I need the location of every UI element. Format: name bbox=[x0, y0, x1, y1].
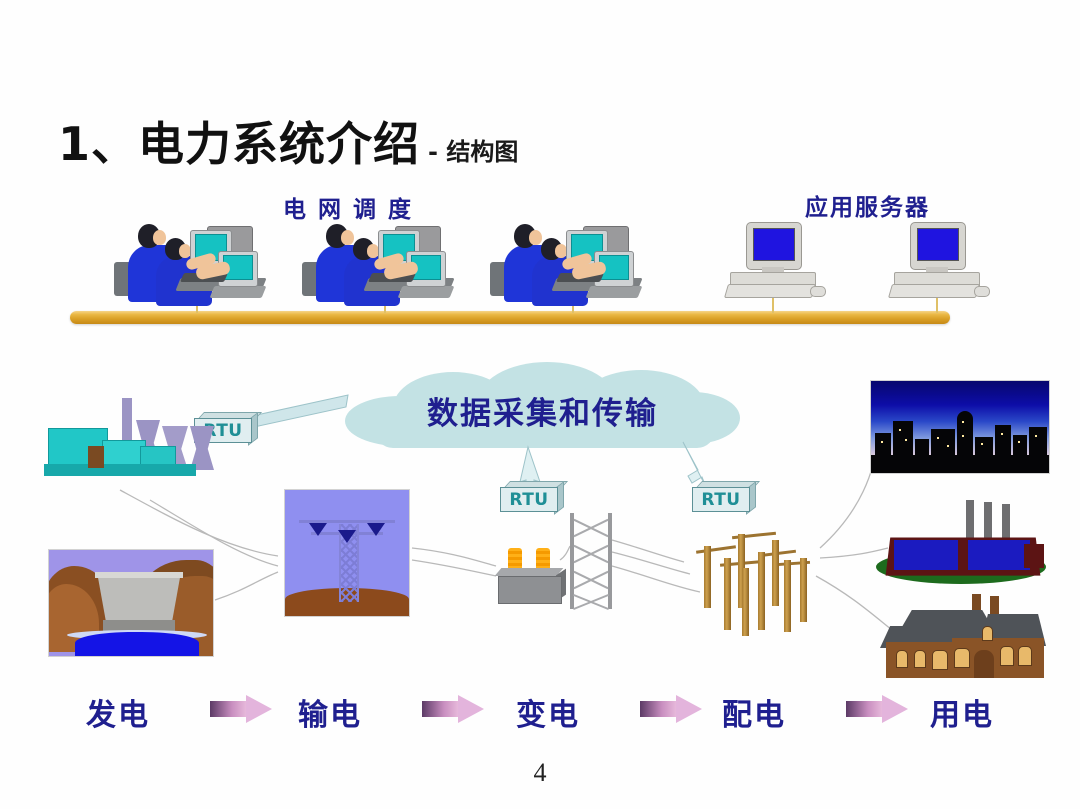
lattice-steel-tower bbox=[570, 513, 612, 609]
city-ground bbox=[871, 455, 1049, 473]
arrow-head bbox=[246, 695, 272, 723]
flow-arrow bbox=[210, 695, 272, 723]
transformer-body bbox=[498, 576, 562, 604]
utility-pole bbox=[704, 546, 711, 608]
flow-arrow bbox=[422, 695, 484, 723]
arrow-shaft bbox=[210, 701, 250, 717]
arrow-head bbox=[676, 695, 702, 723]
building-window bbox=[981, 443, 983, 445]
factory-glass-wall bbox=[894, 540, 958, 570]
window-icon bbox=[896, 650, 908, 668]
pole-crossarm bbox=[696, 545, 736, 554]
building-window bbox=[937, 437, 939, 439]
utility-pole bbox=[800, 558, 807, 622]
window-icon bbox=[982, 626, 993, 641]
factory-annex bbox=[1024, 544, 1044, 568]
arrow-shaft bbox=[640, 701, 680, 717]
transformer-top bbox=[495, 568, 564, 576]
city-skyline bbox=[870, 380, 1050, 474]
building-window bbox=[947, 445, 949, 447]
utility-pole bbox=[724, 558, 731, 630]
building-window bbox=[881, 441, 883, 443]
utility-pole bbox=[742, 568, 749, 636]
residential-house bbox=[874, 592, 1060, 688]
flow-arrow bbox=[640, 695, 702, 723]
flow-step-distribution: 配电 bbox=[722, 690, 786, 734]
building-window bbox=[905, 439, 907, 441]
cloud-label: 数据采集和传输 bbox=[345, 388, 740, 433]
page-number: 4 bbox=[0, 758, 1080, 788]
window-icon bbox=[1018, 646, 1032, 666]
building-window bbox=[962, 421, 964, 423]
building-window bbox=[1001, 433, 1003, 435]
building-window bbox=[1035, 435, 1037, 437]
window-icon bbox=[932, 650, 948, 670]
flow-step-substation: 变电 bbox=[516, 690, 580, 734]
window-icon bbox=[954, 648, 970, 668]
utility-pole bbox=[784, 560, 791, 632]
building-window bbox=[962, 435, 964, 437]
utility-pole bbox=[758, 552, 765, 630]
distribution-poles bbox=[676, 528, 824, 638]
utility-pole bbox=[772, 540, 779, 606]
flow-arrow bbox=[846, 695, 908, 723]
flow-step-generation: 发电 bbox=[86, 690, 150, 734]
entry-porch bbox=[974, 650, 994, 678]
window-icon bbox=[1000, 646, 1014, 666]
chimney-icon bbox=[972, 594, 981, 612]
building-window bbox=[1018, 441, 1020, 443]
building-window bbox=[899, 429, 901, 431]
arrow-shaft bbox=[422, 701, 462, 717]
window-icon bbox=[914, 650, 926, 668]
chimney-icon bbox=[990, 596, 999, 614]
factory-glass-wall bbox=[968, 540, 1030, 570]
slide-canvas: 1、电力系统介绍 - 结构图 电 网 调 度 应用服务器 bbox=[0, 0, 1080, 809]
arrow-head bbox=[882, 695, 908, 723]
arrow-head bbox=[458, 695, 484, 723]
arrow-shaft bbox=[846, 701, 886, 717]
flow-step-consumption: 用电 bbox=[930, 690, 994, 734]
factory bbox=[872, 498, 1054, 590]
process-flow: 发电 输电 变电 配电 用电 bbox=[0, 683, 1080, 739]
flow-step-transmission: 输电 bbox=[298, 690, 362, 734]
